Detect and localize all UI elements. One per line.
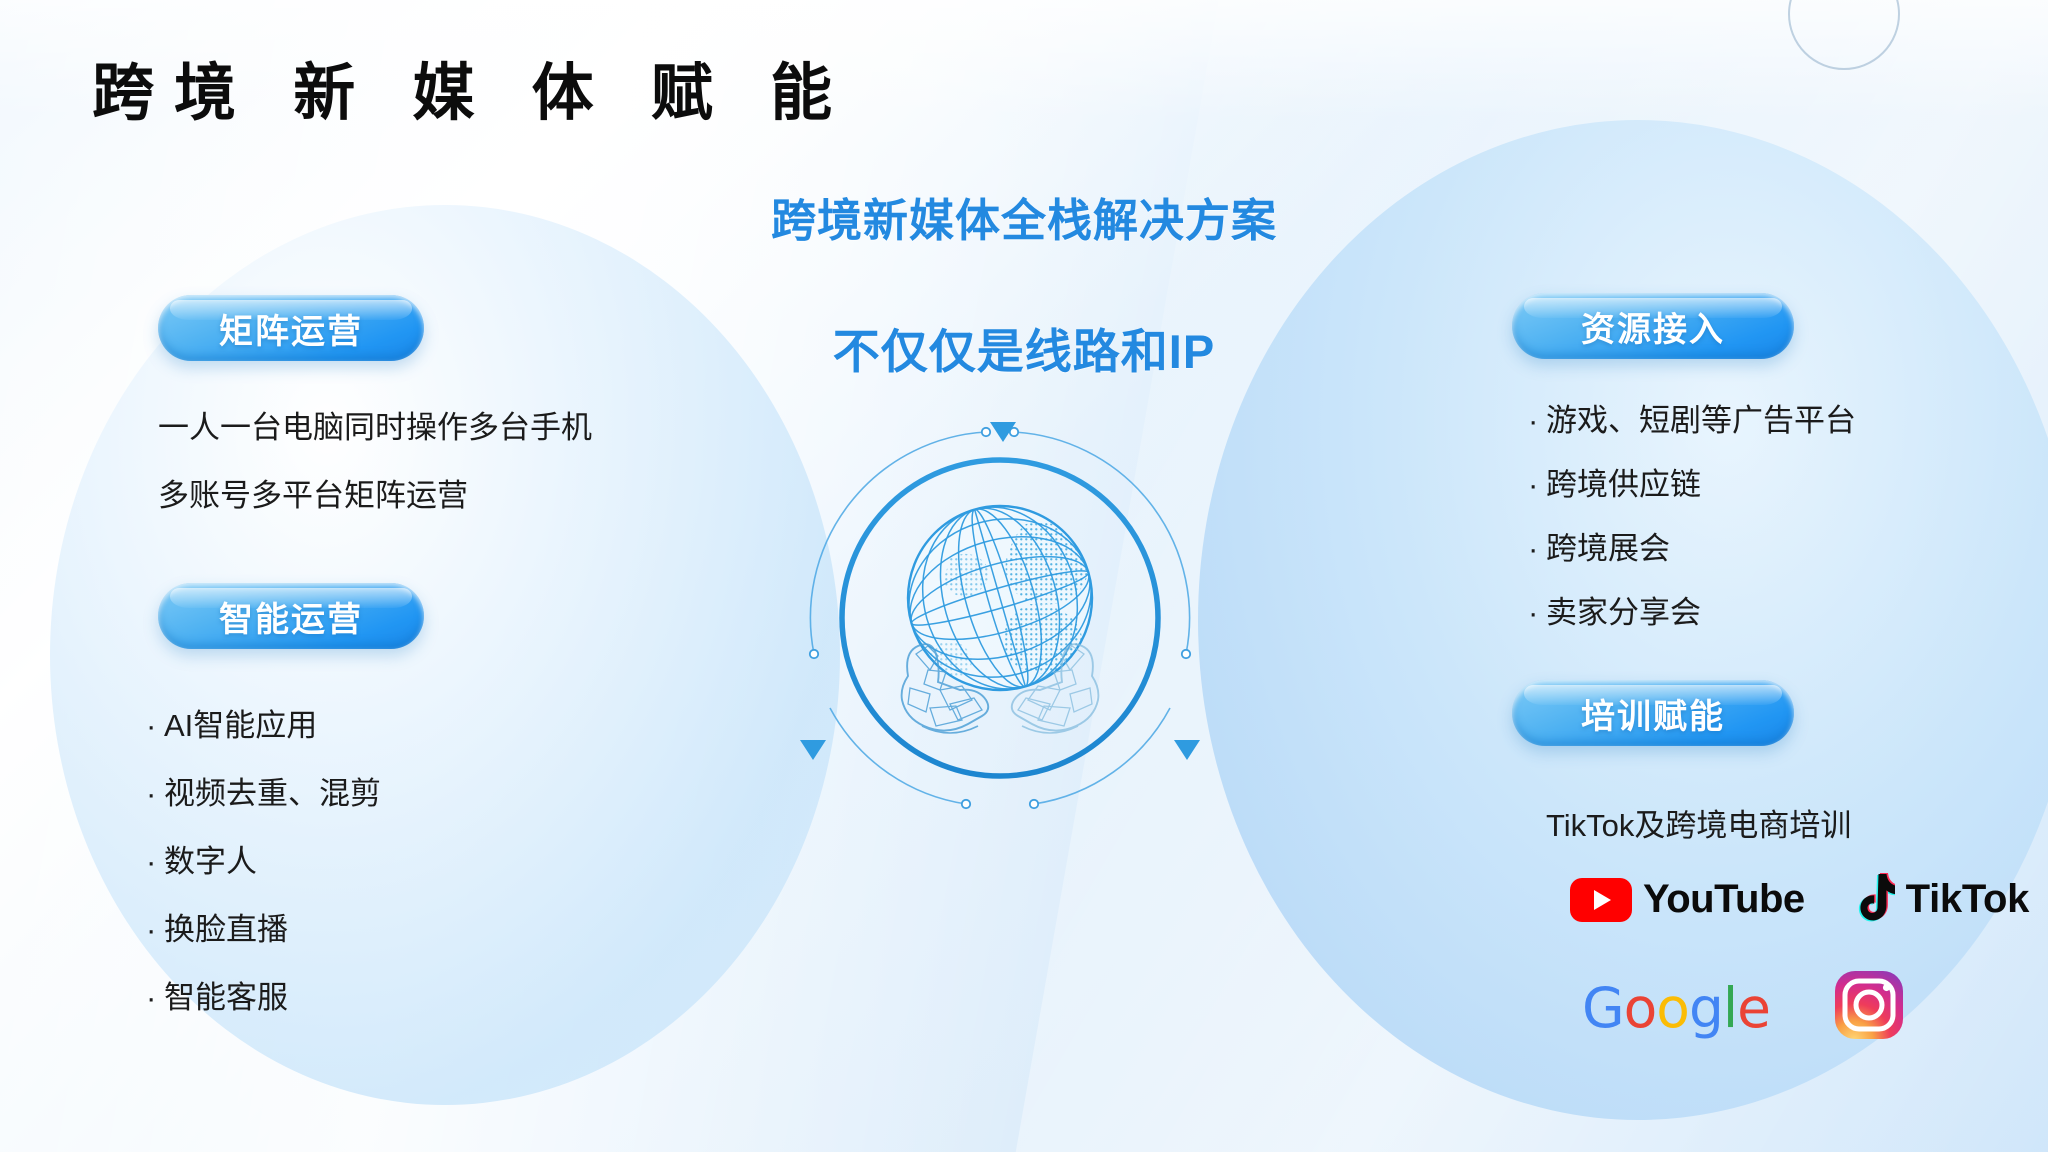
list-item: ·数字人 <box>146 836 257 881</box>
bullet-icon: · <box>146 912 164 948</box>
list-item: ·换脸直播 <box>146 904 288 949</box>
badge-smart-operations-label: 智能运营 <box>219 592 363 641</box>
decorative-circle-outline <box>1788 0 1900 70</box>
list-item: ·卖家分享会 <box>1528 587 1701 632</box>
google-letter-g1: G <box>1582 976 1624 1040</box>
badge-training-empowerment[interactable]: 培训赋能 <box>1512 680 1794 746</box>
wireframe-globe <box>890 489 1110 708</box>
bullet-icon: · <box>1528 403 1546 439</box>
tiktok-note-icon <box>1851 872 1895 927</box>
youtube-play-icon <box>1570 878 1632 922</box>
list-item: ·智能客服 <box>146 972 288 1017</box>
list-item-label: 跨境供应链 <box>1546 467 1701 502</box>
bullet-icon: · <box>146 980 164 1016</box>
google-letter-g2: g <box>1689 976 1723 1040</box>
slide-canvas: 跨境 新 媒 体 赋 能 跨境新媒体全栈解决方案 不仅仅是线路和IP 矩阵运营 … <box>0 0 2048 1152</box>
list-item-label: 跨境展会 <box>1546 531 1670 566</box>
list-item-label: AI智能应用 <box>164 708 317 743</box>
list-item-label: 游戏、短剧等广告平台 <box>1546 403 1856 438</box>
list-item: ·游戏、短剧等广告平台 <box>1528 395 1856 440</box>
list-item: ·跨境供应链 <box>1528 459 1701 504</box>
left-text-item-2: 多账号多平台矩阵运营 <box>158 470 468 515</box>
list-item: ·跨境展会 <box>1528 523 1670 568</box>
list-item: ·视频去重、混剪 <box>146 768 381 813</box>
bullet-icon: · <box>1528 531 1546 567</box>
list-item-label: 换脸直播 <box>164 912 288 947</box>
list-item-label: 视频去重、混剪 <box>164 776 381 811</box>
left-text-item-1: 一人一台电脑同时操作多台手机 <box>158 402 592 447</box>
badge-matrix-operations-label: 矩阵运营 <box>219 304 363 353</box>
list-item-label: 智能客服 <box>164 980 288 1015</box>
google-logo[interactable]: Google <box>1582 976 1770 1040</box>
list-item-label: 卖家分享会 <box>1546 595 1701 630</box>
badge-resource-access[interactable]: 资源接入 <box>1512 293 1794 359</box>
youtube-logo[interactable]: YouTube <box>1570 877 1805 922</box>
right-text-training: TikTok及跨境电商培训 <box>1546 800 1851 845</box>
google-letter-o2: o <box>1656 976 1689 1040</box>
tiktok-logo[interactable]: TikTok <box>1851 872 2029 927</box>
youtube-logo-label: YouTube <box>1643 877 1805 922</box>
page-title: 跨境 新 媒 体 赋 能 <box>92 42 852 132</box>
globe-in-hands-illustration <box>790 408 1210 828</box>
bullet-icon: · <box>1528 467 1546 503</box>
badge-smart-operations[interactable]: 智能运营 <box>158 583 424 649</box>
instagram-logo[interactable] <box>1832 968 1906 1047</box>
logo-row-top: YouTube TikTok <box>1570 872 2029 927</box>
bullet-icon: · <box>146 844 164 880</box>
google-letter-o1: o <box>1624 976 1657 1040</box>
bullet-icon: · <box>146 708 164 744</box>
logo-row-bottom: Google <box>1582 968 1906 1047</box>
list-item: ·AI智能应用 <box>146 700 317 745</box>
bullet-icon: · <box>1528 595 1546 631</box>
badge-training-empowerment-label: 培训赋能 <box>1581 689 1725 738</box>
center-heading-primary: 跨境新媒体全栈解决方案 <box>0 184 2048 249</box>
bullet-icon: · <box>146 776 164 812</box>
tiktok-logo-label: TikTok <box>1906 877 2029 922</box>
badge-resource-access-label: 资源接入 <box>1581 302 1725 351</box>
google-letter-e: e <box>1737 976 1770 1040</box>
badge-matrix-operations[interactable]: 矩阵运营 <box>158 295 424 361</box>
list-item-label: 数字人 <box>164 844 257 879</box>
google-letter-l: l <box>1723 976 1737 1040</box>
